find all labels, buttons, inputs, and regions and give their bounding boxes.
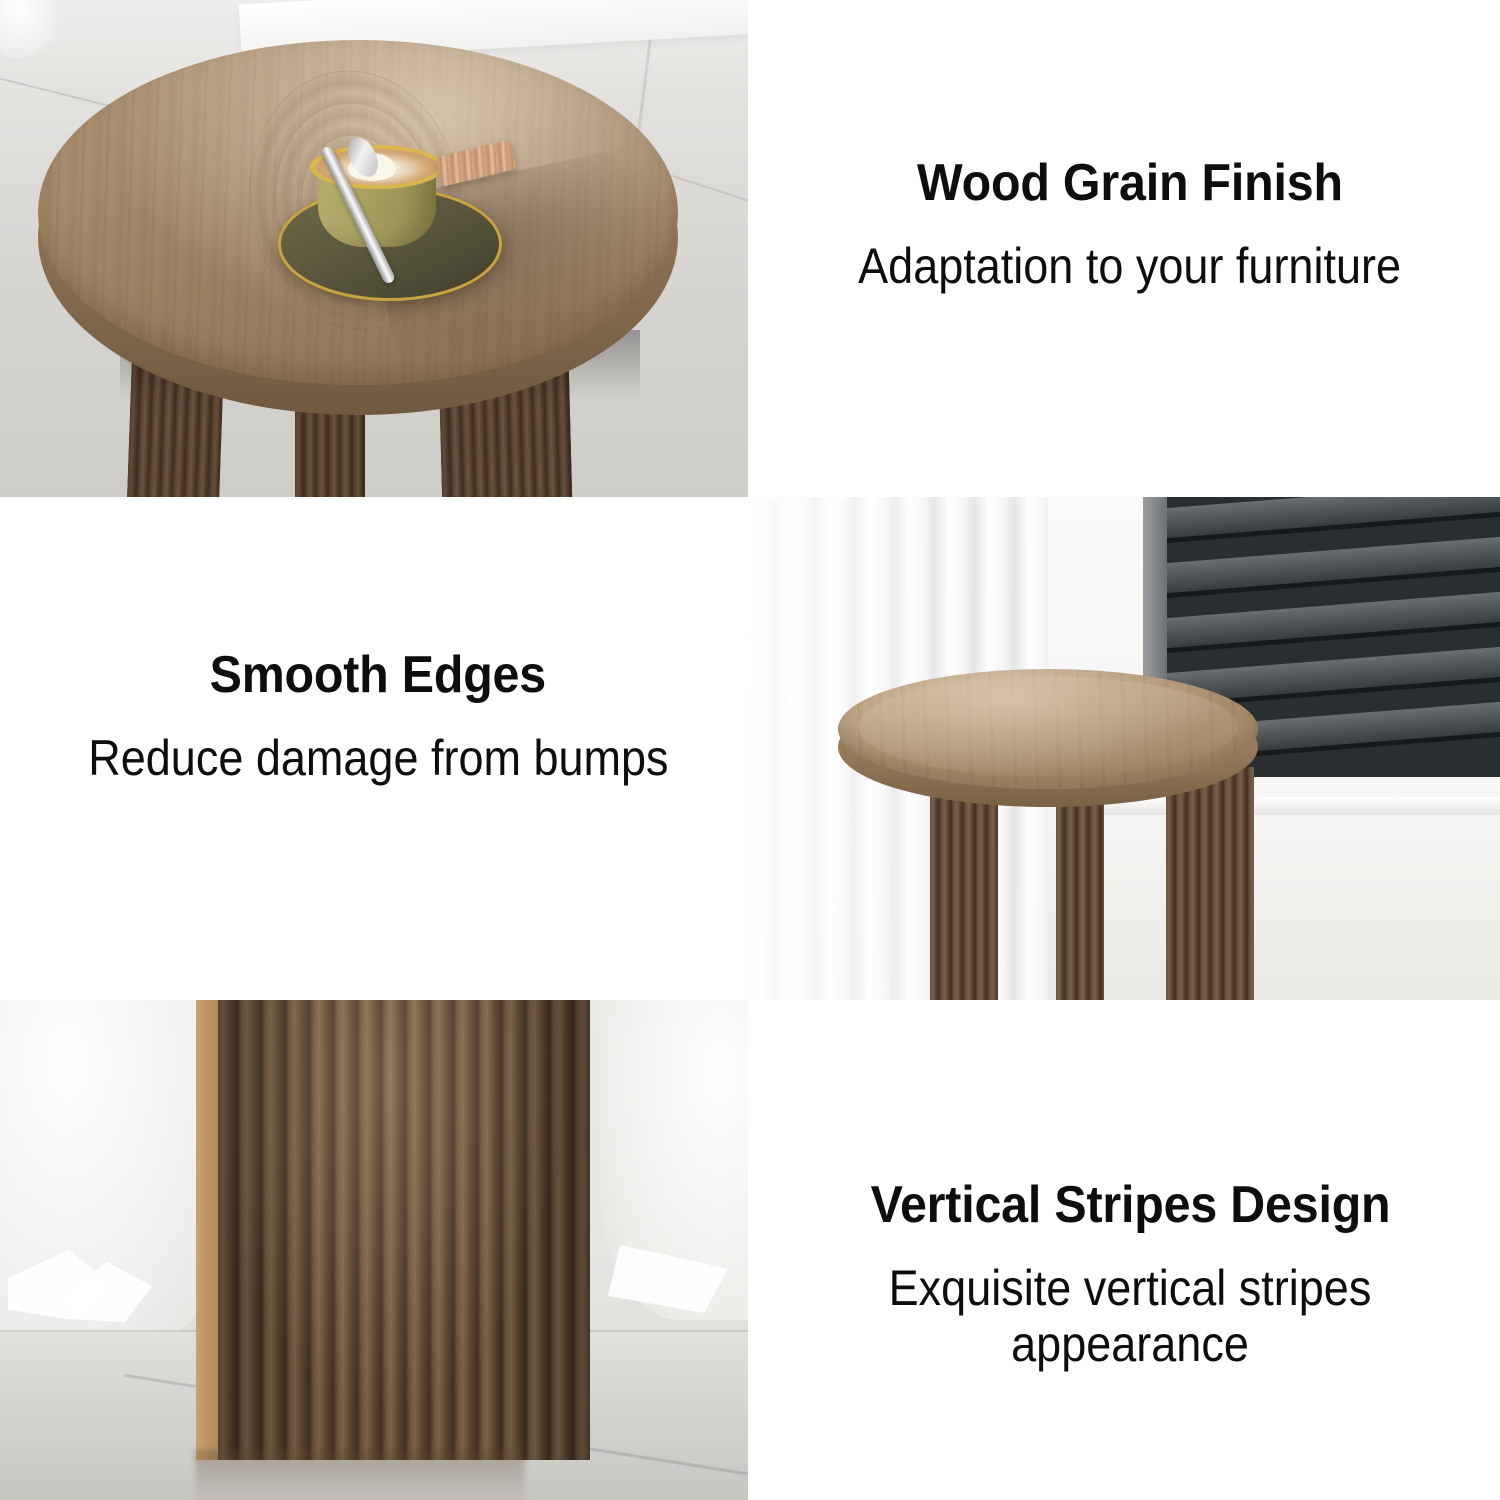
photo-fluted-leg [0,1000,748,1500]
vent-slat [1143,589,1500,650]
tabletop-inner-sheen [858,677,1238,777]
floor-reflection [195,1450,525,1500]
leg-shading [218,1000,590,1460]
feature-subtitle: Exquisite vertical stripes appearance [851,1260,1409,1372]
feature-wood-grain-finish: Wood Grain Finish Adaptation to your fur… [760,120,1500,330]
feature-subtitle: Reduce damage from bumps [88,730,668,786]
vent-slat [1143,497,1500,541]
feature-title: Vertical Stripes Design [870,1178,1390,1233]
feature-collage-page: Wood Grain Finish Adaptation to your fur… [0,0,1500,1500]
feature-title: Wood Grain Finish [917,156,1343,211]
feature-vertical-stripes-design: Vertical Stripes Design Exquisite vertic… [760,1150,1500,1400]
photo-tabletop-coffee [0,0,748,497]
photo-table-by-vent [748,497,1500,1000]
feature-title: Smooth Edges [210,648,546,703]
leg-light-edge [196,1000,218,1460]
table-leg [1166,767,1254,1000]
feature-subtitle: Adaptation to your furniture [859,238,1402,294]
vent-slat [1143,534,1500,595]
feature-smooth-edges: Smooth Edges Reduce damage from bumps [8,612,748,822]
